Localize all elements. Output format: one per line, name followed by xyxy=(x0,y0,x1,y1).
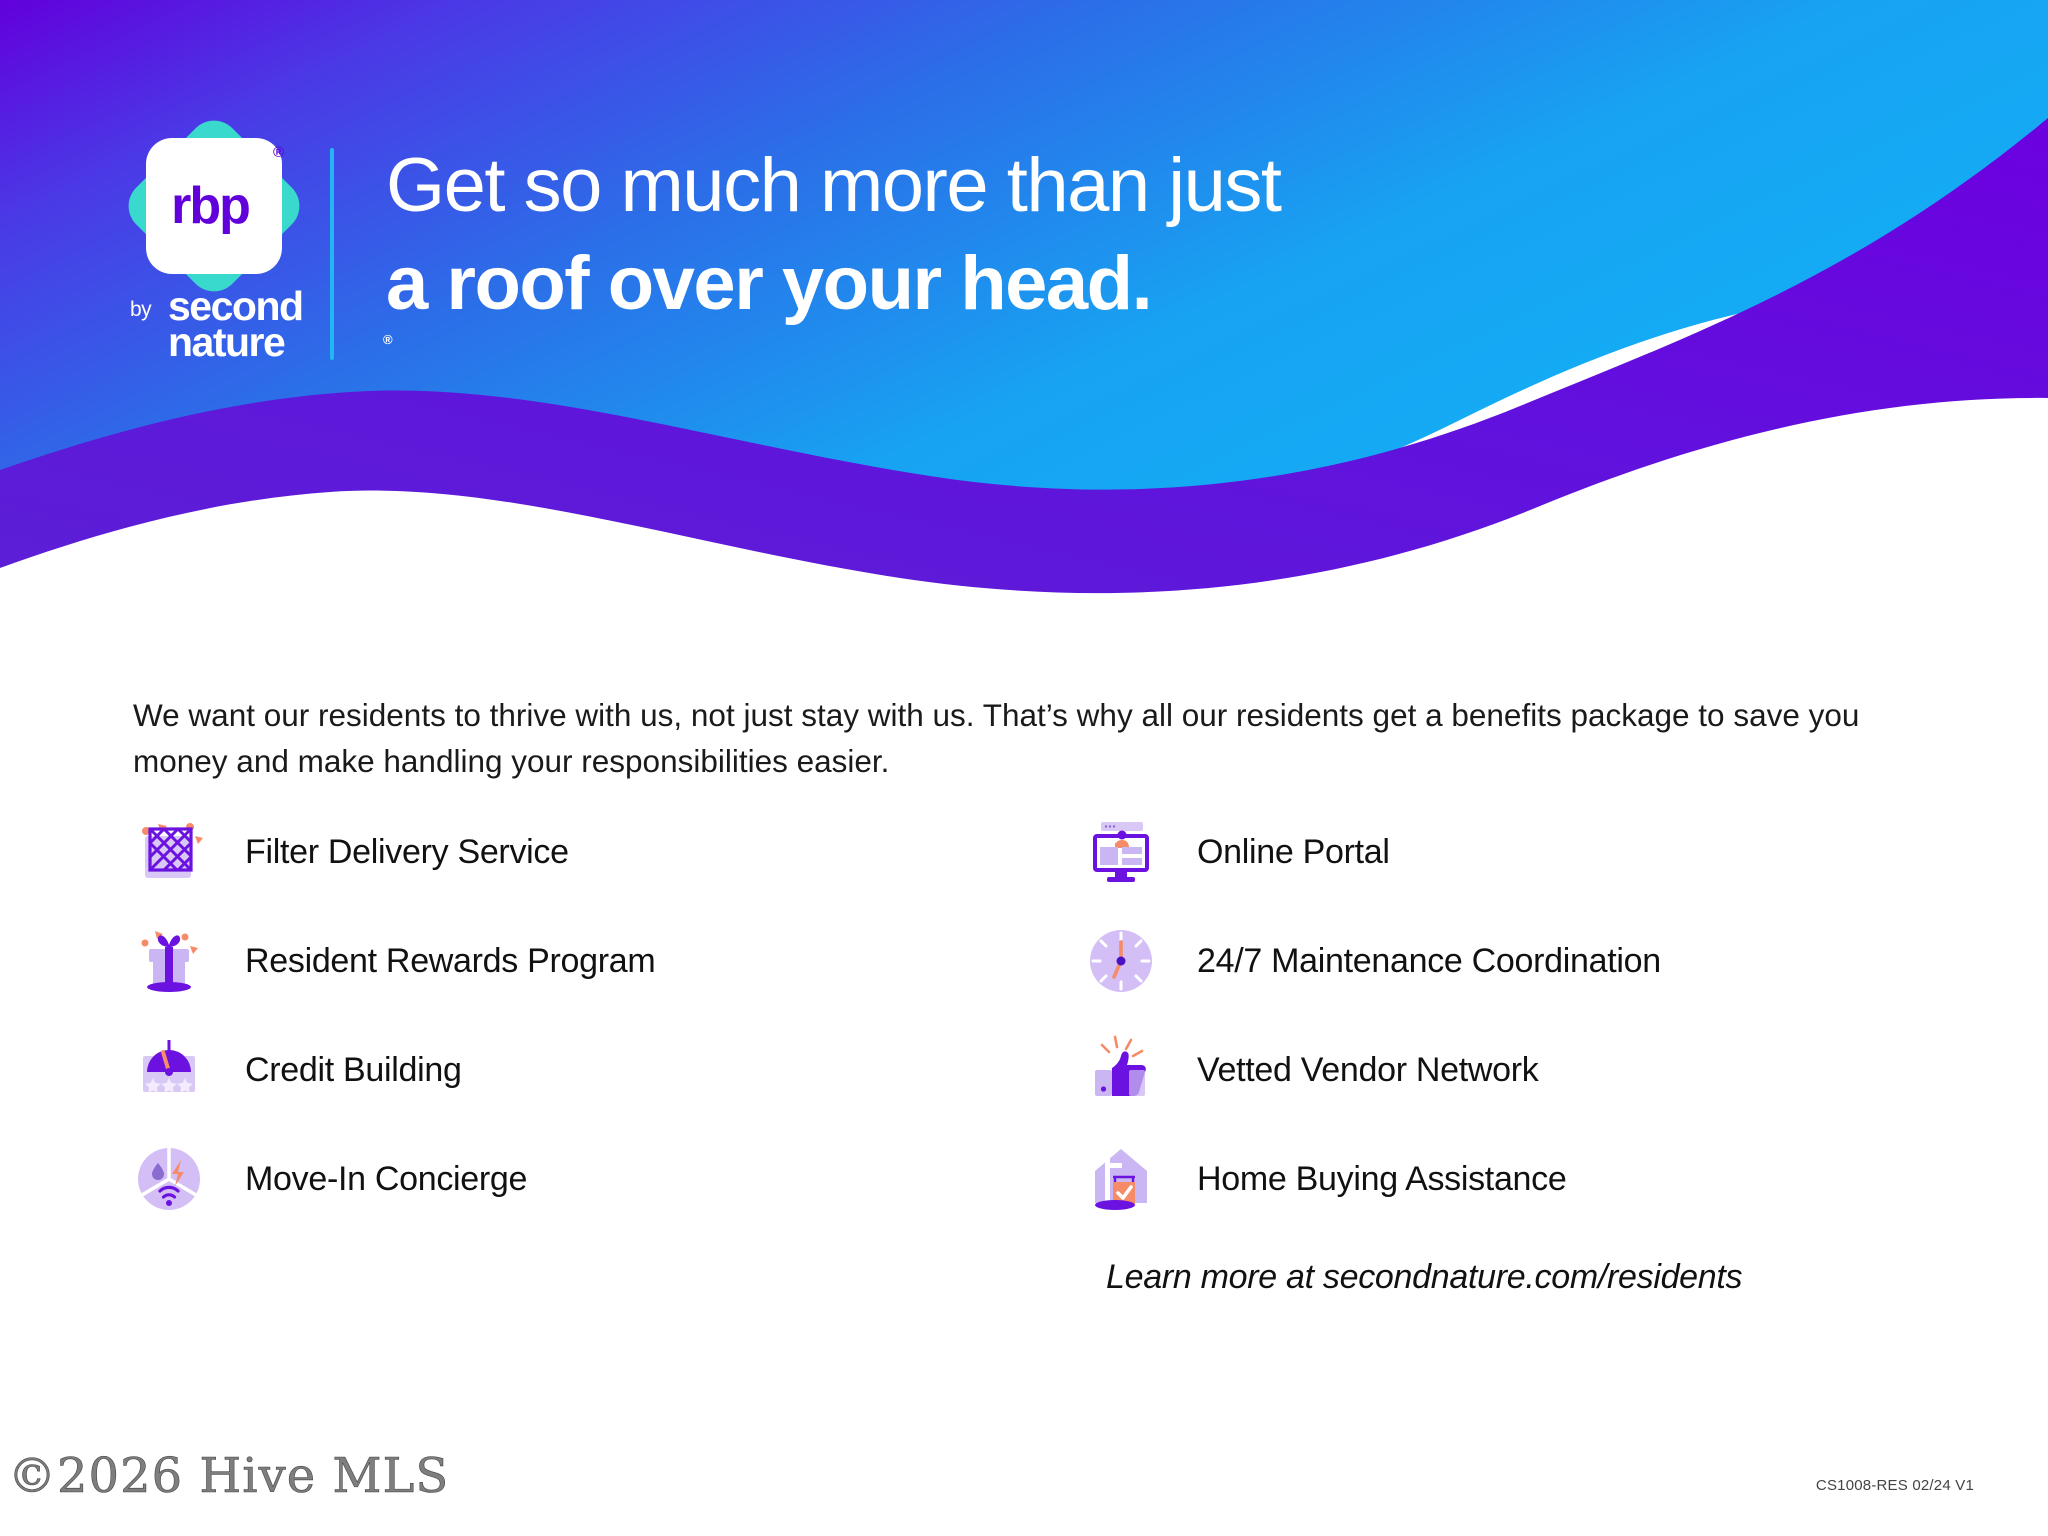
benefit-label: Vetted Vendor Network xyxy=(1197,1051,1538,1090)
benefit-label: Home Buying Assistance xyxy=(1197,1160,1566,1199)
desktop-monitor-icon xyxy=(1085,816,1157,888)
house-sign-icon xyxy=(1085,1143,1157,1215)
cta-learn-more[interactable]: Learn more at secondnature.com/residents xyxy=(1106,1258,1742,1297)
badge-registered-mark: ® xyxy=(273,144,284,161)
credit-gauge-icon xyxy=(133,1034,205,1106)
intro-paragraph: We want our residents to thrive with us,… xyxy=(133,692,1893,785)
benefit-item-vetted-vendor-network: Vetted Vendor Network xyxy=(1085,1016,2015,1124)
document-code: CS1008-RES 02/24 V1 xyxy=(1816,1477,1974,1494)
flyer-page: rbp ® by second nature ® Get so much mor… xyxy=(0,0,2048,1536)
benefit-label: Move-In Concierge xyxy=(245,1160,527,1199)
benefit-label: Filter Delivery Service xyxy=(245,833,569,872)
headline: Get so much more than just a roof over y… xyxy=(386,148,1586,322)
logo-divider xyxy=(330,148,334,360)
rbp-badge-icon: rbp ® xyxy=(146,138,282,274)
air-filter-icon xyxy=(133,816,205,888)
benefit-item-maintenance-coordination: 24/7 Maintenance Coordination xyxy=(1085,907,2015,1015)
badge-label: rbp xyxy=(171,180,257,232)
benefit-item-credit-building: Credit Building xyxy=(133,1016,1033,1124)
gift-box-icon xyxy=(133,925,205,997)
utilities-circle-icon xyxy=(133,1143,205,1215)
headline-line-1: Get so much more than just xyxy=(386,148,1586,224)
badge-square-shape: rbp ® xyxy=(146,138,282,274)
wordmark-by-label: by xyxy=(130,298,151,322)
headline-line-2: a roof over your head. xyxy=(386,246,1586,322)
wordmark-nature-label: nature xyxy=(168,322,284,363)
benefit-label: Credit Building xyxy=(245,1051,462,1090)
benefit-item-online-portal: Online Portal xyxy=(1085,798,2015,906)
benefit-label: Resident Rewards Program xyxy=(245,942,655,981)
benefit-label: 24/7 Maintenance Coordination xyxy=(1197,942,1661,981)
rbp-logo-lockup: rbp ® by second nature ® xyxy=(128,138,358,368)
benefits-column-left: Filter Delivery Service Resident Rewards… xyxy=(133,798,1033,1234)
wordmark-registered-mark: ® xyxy=(383,332,393,347)
benefits-column-right: Online Portal xyxy=(1085,798,2015,1234)
benefit-item-resident-rewards-program: Resident Rewards Program xyxy=(133,907,1033,1015)
benefit-label: Online Portal xyxy=(1197,833,1390,872)
mls-copyright-watermark: ©2026 Hive MLS xyxy=(8,1448,449,1504)
benefit-item-filter-delivery-service: Filter Delivery Service xyxy=(133,798,1033,906)
benefit-item-move-in-concierge: Move-In Concierge xyxy=(133,1125,1033,1233)
clock-icon xyxy=(1085,925,1157,997)
benefit-item-home-buying-assistance: Home Buying Assistance xyxy=(1085,1125,2015,1233)
thumbs-up-icon xyxy=(1085,1034,1157,1106)
